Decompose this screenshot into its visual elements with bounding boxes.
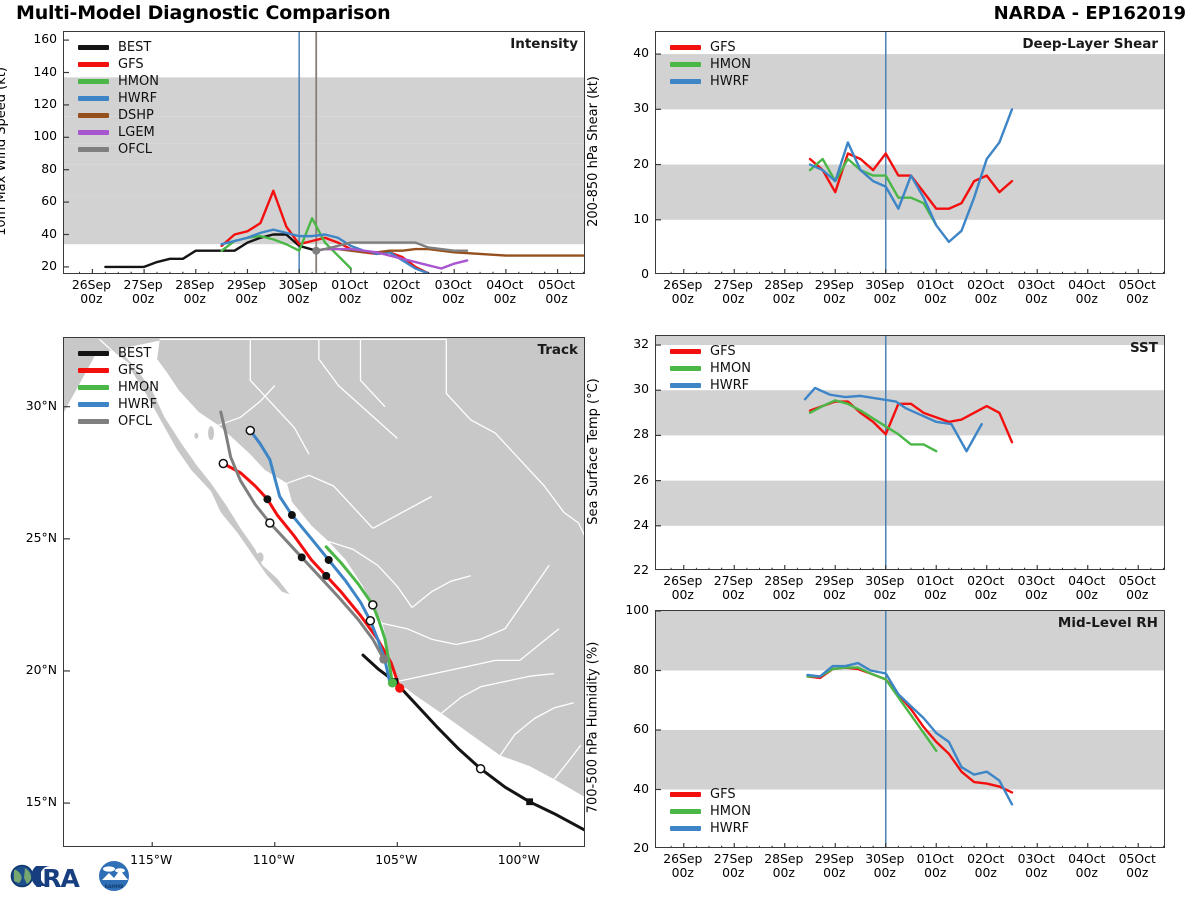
legend-label-track-gfs: GFS bbox=[118, 363, 144, 378]
track-marker-filled bbox=[263, 495, 271, 503]
legend-label-track-best: BEST bbox=[118, 346, 151, 361]
track-legend: BESTGFSHMONHWRFOFCL bbox=[78, 345, 159, 430]
ytick-intensity-160: 160 bbox=[11, 31, 57, 46]
track-endpoint-gfs bbox=[395, 684, 404, 693]
track-marker-filled bbox=[526, 798, 533, 805]
xtick-sst-9: 05Oct00z bbox=[1105, 574, 1169, 602]
ytick-rh-40: 40 bbox=[603, 781, 649, 796]
track-ytick-15: 15°N bbox=[1, 794, 57, 809]
ylabel-intensity: 10m Max Wind Speed (kt) bbox=[0, 30, 9, 273]
legend-swatch-track-ofcl bbox=[78, 419, 109, 423]
sst-title: SST bbox=[1130, 340, 1158, 356]
rammb-badge-text: RAMMB bbox=[105, 884, 125, 890]
ylabel-shear: 200-850 hPa Shear (kt) bbox=[586, 30, 601, 273]
legend-label-lgem: LGEM bbox=[118, 125, 155, 140]
track-marker-open bbox=[369, 601, 377, 609]
track-marker-filled bbox=[288, 511, 296, 519]
track-xtick-105: 105°W bbox=[361, 853, 431, 867]
legend-swatch-gfs bbox=[78, 62, 109, 66]
legend-label-track-hmon: HMON bbox=[118, 380, 159, 395]
track-xtick-115: 115°W bbox=[116, 853, 186, 867]
ytick-intensity-80: 80 bbox=[11, 161, 57, 176]
ytick-sst-30: 30 bbox=[603, 381, 649, 396]
legend-item-hmon: HMON bbox=[670, 803, 751, 820]
legend-label-gfs: GFS bbox=[118, 57, 144, 72]
track-ytick-25: 25°N bbox=[1, 530, 57, 545]
legend-swatch-gfs bbox=[670, 349, 701, 353]
legend-label-gfs: GFS bbox=[710, 40, 736, 55]
legend-item-track-hmon: HMON bbox=[78, 379, 159, 396]
legend-swatch-best bbox=[78, 45, 109, 49]
ytick-shear-30: 30 bbox=[603, 100, 649, 115]
track-endpoint-ofcl bbox=[379, 654, 388, 663]
rh-title: Mid-Level RH bbox=[1058, 615, 1158, 631]
ytick-intensity-60: 60 bbox=[11, 193, 57, 208]
shear-panel: Deep-Layer ShearGFSHMONHWRF bbox=[655, 31, 1165, 274]
ytick-sst-28: 28 bbox=[603, 426, 649, 441]
ytick-sst-24: 24 bbox=[603, 517, 649, 532]
track-marker-filled bbox=[322, 572, 330, 580]
legend-swatch-hmon bbox=[670, 366, 701, 370]
legend-item-hwrf: HWRF bbox=[670, 73, 751, 90]
legend-label-hwrf: HWRF bbox=[118, 91, 157, 106]
legend-item-gfs: GFS bbox=[670, 786, 751, 803]
legend-swatch-hwrf bbox=[670, 79, 701, 83]
intensity-legend: BESTGFSHMONHWRFDSHPLGEMOFCL bbox=[78, 39, 159, 158]
legend-swatch-hwrf bbox=[670, 383, 701, 387]
ytick-rh-60: 60 bbox=[603, 721, 649, 736]
legend-swatch-hmon bbox=[78, 79, 109, 83]
legend-item-hmon: HMON bbox=[78, 73, 159, 90]
track-marker-filled bbox=[298, 553, 306, 561]
legend-swatch-hwrf bbox=[670, 826, 701, 830]
legend-item-track-gfs: GFS bbox=[78, 362, 159, 379]
rh-legend: GFSHMONHWRF bbox=[670, 786, 751, 837]
legend-label-hmon: HMON bbox=[710, 57, 751, 72]
ofcl-init-marker bbox=[312, 247, 320, 255]
track-marker-open bbox=[219, 460, 227, 468]
legend-item-best: BEST bbox=[78, 39, 159, 56]
legend-swatch-hmon bbox=[670, 62, 701, 66]
track-endpoint-hmon bbox=[388, 678, 397, 687]
legend-swatch-track-hwrf bbox=[78, 402, 109, 406]
legend-item-ofcl: OFCL bbox=[78, 141, 159, 158]
legend-item-hmon: HMON bbox=[670, 360, 751, 377]
shear-legend: GFSHMONHWRF bbox=[670, 39, 751, 90]
rh-panel: Mid-Level RHGFSHMONHWRF bbox=[655, 610, 1165, 848]
sst-legend: GFSHMONHWRF bbox=[670, 343, 751, 394]
xtick-rh-9: 05Oct00z bbox=[1105, 852, 1169, 880]
legend-label-best: BEST bbox=[118, 40, 151, 55]
legend-swatch-track-hmon bbox=[78, 385, 109, 389]
legend-label-hwrf: HWRF bbox=[710, 378, 749, 393]
legend-item-track-ofcl: OFCL bbox=[78, 413, 159, 430]
legend-swatch-hwrf bbox=[78, 96, 109, 100]
legend-item-hwrf: HWRF bbox=[78, 90, 159, 107]
ytick-sst-32: 32 bbox=[603, 336, 649, 351]
intensity-panel: IntensityBESTGFSHMONHWRFDSHPLGEMOFCL bbox=[63, 31, 585, 274]
legend-item-track-best: BEST bbox=[78, 345, 159, 362]
page-title: Multi-Model Diagnostic Comparison bbox=[16, 2, 390, 24]
ytick-sst-22: 22 bbox=[603, 562, 649, 577]
legend-item-hwrf: HWRF bbox=[670, 820, 751, 837]
ylabel-rh: 700-500 hPa Humidity (%) bbox=[586, 609, 601, 847]
ytick-rh-20: 20 bbox=[603, 840, 649, 855]
xtick-intensity-9: 05Oct00z bbox=[525, 278, 589, 306]
track-xtick-100: 100°W bbox=[484, 853, 554, 867]
ytick-intensity-120: 120 bbox=[11, 96, 57, 111]
track-marker-open bbox=[477, 765, 485, 773]
track-ytick-20: 20°N bbox=[1, 662, 57, 677]
legend-item-gfs: GFS bbox=[670, 39, 751, 56]
ytick-sst-26: 26 bbox=[603, 472, 649, 487]
track-ytick-30: 30°N bbox=[1, 398, 57, 413]
legend-item-hmon: HMON bbox=[670, 56, 751, 73]
track-title: Track bbox=[538, 342, 578, 358]
ytick-rh-100: 100 bbox=[603, 602, 649, 617]
xtick-shear-9: 05Oct00z bbox=[1105, 278, 1169, 306]
legend-item-track-hwrf: HWRF bbox=[78, 396, 159, 413]
legend-swatch-gfs bbox=[670, 792, 701, 796]
legend-label-gfs: GFS bbox=[710, 344, 736, 359]
ytick-intensity-100: 100 bbox=[11, 128, 57, 143]
legend-item-gfs: GFS bbox=[78, 56, 159, 73]
track-panel: TrackBESTGFSHMONHWRFOFCL bbox=[63, 337, 585, 847]
track-xtick-110: 110°W bbox=[239, 853, 309, 867]
legend-label-hwrf: HWRF bbox=[710, 74, 749, 89]
svg-text:IRA: IRA bbox=[34, 864, 81, 893]
legend-label-hmon: HMON bbox=[710, 361, 751, 376]
legend-swatch-ofcl bbox=[78, 147, 109, 151]
legend-swatch-track-gfs bbox=[78, 368, 109, 372]
ylabel-sst: Sea Surface Temp (°C) bbox=[586, 334, 601, 569]
track-marker-open bbox=[266, 519, 274, 527]
track-marker-open bbox=[366, 617, 374, 625]
legend-swatch-lgem bbox=[78, 130, 109, 134]
ytick-shear-20: 20 bbox=[603, 156, 649, 171]
storm-identifier: NARDA - EP162019 bbox=[994, 3, 1186, 24]
ytick-shear-0: 0 bbox=[603, 266, 649, 281]
legend-label-dshp: DSHP bbox=[118, 108, 154, 123]
legend-item-hwrf: HWRF bbox=[670, 377, 751, 394]
legend-label-track-hwrf: HWRF bbox=[118, 397, 157, 412]
shear-title: Deep-Layer Shear bbox=[1022, 36, 1158, 52]
legend-item-dshp: DSHP bbox=[78, 107, 159, 124]
ytick-intensity-20: 20 bbox=[11, 258, 57, 273]
track-marker-filled bbox=[325, 556, 333, 564]
legend-label-hmon: HMON bbox=[118, 74, 159, 89]
ytick-intensity-140: 140 bbox=[11, 64, 57, 79]
legend-swatch-hmon bbox=[670, 809, 701, 813]
legend-item-lgem: LGEM bbox=[78, 124, 159, 141]
legend-item-gfs: GFS bbox=[670, 343, 751, 360]
legend-label-ofcl: OFCL bbox=[118, 142, 152, 157]
ytick-intensity-40: 40 bbox=[11, 226, 57, 241]
intensity-title: Intensity bbox=[510, 36, 578, 52]
legend-label-track-ofcl: OFCL bbox=[118, 414, 152, 429]
ytick-shear-40: 40 bbox=[603, 45, 649, 60]
legend-swatch-gfs bbox=[670, 45, 701, 49]
legend-swatch-track-best bbox=[78, 351, 109, 355]
track-marker-open bbox=[246, 426, 254, 434]
legend-label-gfs: GFS bbox=[710, 787, 736, 802]
legend-label-hmon: HMON bbox=[710, 804, 751, 819]
ytick-shear-10: 10 bbox=[603, 211, 649, 226]
legend-label-hwrf: HWRF bbox=[710, 821, 749, 836]
legend-swatch-dshp bbox=[78, 113, 109, 117]
ytick-rh-80: 80 bbox=[603, 662, 649, 677]
sst-panel: SSTGFSHMONHWRF bbox=[655, 335, 1165, 570]
